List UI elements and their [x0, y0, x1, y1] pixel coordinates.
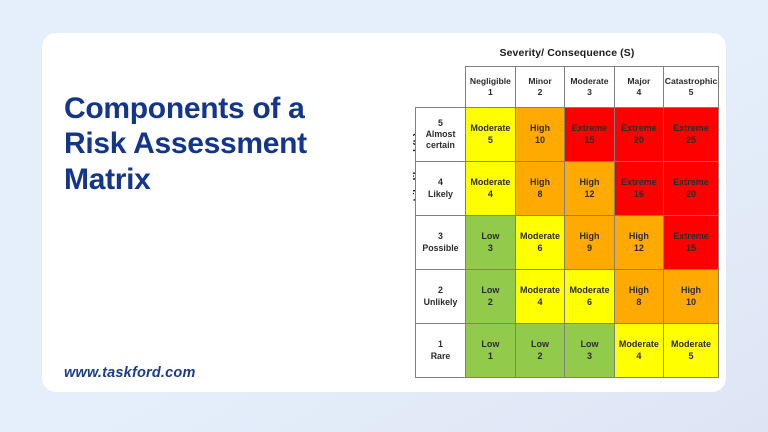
matrix-cell[interactable]: High 12	[565, 162, 614, 216]
cell-level: High	[565, 177, 613, 189]
matrix-row: 1 Rare Low 1 Low 2 Low 3	[416, 324, 719, 378]
matrix-row: 3 Possible Low 3 Moderate 6 High	[416, 216, 719, 270]
matrix-cell[interactable]: High 12	[614, 216, 663, 270]
matrix-cell[interactable]: Extreme 15	[664, 216, 719, 270]
severity-axis-title: Severity/ Consequence (S)	[415, 47, 719, 59]
cell-value: 5	[466, 135, 515, 147]
matrix-header-row: Negligible 1 Minor 2 Moderate 3 Major	[416, 67, 719, 108]
severity-header-3: Moderate 3	[565, 67, 614, 108]
cell-level: Moderate	[565, 285, 613, 297]
cell-value: 6	[516, 243, 564, 255]
cell-value: 12	[615, 243, 663, 255]
matrix-cell[interactable]: Low 2	[465, 270, 515, 324]
likelihood-header-4-label: Likely	[416, 189, 465, 200]
cell-value: 1	[466, 351, 515, 363]
severity-header-1-label: Negligible	[466, 76, 515, 87]
cell-value: 8	[516, 189, 564, 201]
cell-value: 3	[466, 243, 515, 255]
severity-header-2-label: Minor	[516, 76, 564, 87]
cell-level: Extreme	[615, 123, 663, 135]
matrix-cell[interactable]: Moderate 4	[465, 162, 515, 216]
likelihood-header-5-score: 5	[416, 118, 465, 129]
page-title-line-1: Components of a	[64, 91, 384, 126]
matrix-cell[interactable]: Low 1	[465, 324, 515, 378]
severity-header-4-score: 4	[615, 87, 663, 98]
severity-header-4-label: Major	[615, 76, 663, 87]
cell-level: High	[664, 285, 718, 297]
slide-canvas: Components of a Risk Assessment Matrix w…	[0, 0, 768, 432]
cell-value: 12	[565, 189, 613, 201]
cell-level: Extreme	[565, 123, 613, 135]
page-title: Components of a Risk Assessment Matrix	[64, 91, 384, 197]
likelihood-header-4-score: 4	[416, 177, 465, 188]
cell-value: 4	[615, 351, 663, 363]
severity-header-3-label: Moderate	[565, 76, 613, 87]
cell-value: 25	[664, 135, 718, 147]
matrix-cell[interactable]: High 9	[565, 216, 614, 270]
matrix-row: 5 Almost certain Moderate 5 High 10 Ex	[416, 108, 719, 162]
matrix-row: 2 Unlikely Low 2 Moderate 4 Moderate	[416, 270, 719, 324]
cell-level: Moderate	[664, 339, 718, 351]
likelihood-header-3-score: 3	[416, 231, 465, 242]
matrix-cell[interactable]: Moderate 6	[515, 216, 564, 270]
cell-level: High	[516, 177, 564, 189]
matrix-cell[interactable]: Moderate 5	[465, 108, 515, 162]
cell-value: 9	[565, 243, 613, 255]
severity-header-5: Catastrophic 5	[664, 67, 719, 108]
severity-header-4: Major 4	[614, 67, 663, 108]
likelihood-header-5-label: Almost certain	[416, 129, 465, 152]
risk-matrix-figure: Severity/ Consequence (S) Likelihood (L)…	[347, 39, 719, 387]
matrix-cell[interactable]: Extreme 15	[565, 108, 614, 162]
cell-level: Low	[565, 339, 613, 351]
likelihood-header-3: 3 Possible	[416, 216, 466, 270]
cell-value: 16	[615, 189, 663, 201]
matrix-cell[interactable]: Extreme 20	[614, 108, 663, 162]
severity-header-1: Negligible 1	[465, 67, 515, 108]
cell-level: Moderate	[466, 177, 515, 189]
cell-value: 10	[516, 135, 564, 147]
cell-value: 6	[565, 297, 613, 309]
cell-level: High	[615, 285, 663, 297]
matrix-cell[interactable]: Moderate 6	[565, 270, 614, 324]
cell-value: 3	[565, 351, 613, 363]
matrix-cell[interactable]: Extreme 16	[614, 162, 663, 216]
severity-header-2-score: 2	[516, 87, 564, 98]
matrix-cell[interactable]: Low 2	[515, 324, 564, 378]
cell-level: Low	[466, 339, 515, 351]
cell-level: Extreme	[664, 177, 718, 189]
likelihood-header-2: 2 Unlikely	[416, 270, 466, 324]
cell-level: High	[516, 123, 564, 135]
cell-value: 2	[466, 297, 515, 309]
website-url[interactable]: www.taskford.com	[64, 365, 196, 381]
severity-header-5-score: 5	[664, 87, 718, 98]
matrix-cell[interactable]: High 8	[515, 162, 564, 216]
cell-level: Moderate	[466, 123, 515, 135]
cell-value: 10	[664, 297, 718, 309]
likelihood-header-4: 4 Likely	[416, 162, 466, 216]
severity-header-2: Minor 2	[515, 67, 564, 108]
cell-level: Moderate	[516, 285, 564, 297]
severity-header-5-label: Catastrophic	[664, 76, 718, 87]
cell-level: Extreme	[664, 123, 718, 135]
likelihood-header-3-label: Possible	[416, 243, 465, 254]
matrix-cell[interactable]: Extreme 25	[664, 108, 719, 162]
cell-value: 8	[615, 297, 663, 309]
content-card: Components of a Risk Assessment Matrix w…	[42, 33, 726, 392]
matrix-cell[interactable]: Extreme 20	[664, 162, 719, 216]
likelihood-header-1: 1 Rare	[416, 324, 466, 378]
cell-level: Moderate	[615, 339, 663, 351]
cell-level: High	[565, 231, 613, 243]
likelihood-header-2-score: 2	[416, 285, 465, 296]
cell-value: 4	[516, 297, 564, 309]
page-title-line-2: Risk Assessment	[64, 126, 384, 161]
matrix-cell[interactable]: Moderate 5	[664, 324, 719, 378]
severity-header-3-score: 3	[565, 87, 613, 98]
matrix-row: 4 Likely Moderate 4 High 8 High	[416, 162, 719, 216]
cell-value: 4	[466, 189, 515, 201]
likelihood-header-2-label: Unlikely	[416, 297, 465, 308]
cell-value: 15	[565, 135, 613, 147]
likelihood-header-5: 5 Almost certain	[416, 108, 466, 162]
matrix-cell[interactable]: Moderate 4	[515, 270, 564, 324]
matrix-cell[interactable]: Moderate 4	[614, 324, 663, 378]
cell-value: 20	[664, 189, 718, 201]
likelihood-header-1-label: Rare	[416, 351, 465, 362]
matrix-cell[interactable]: High 10	[664, 270, 719, 324]
cell-value: 15	[664, 243, 718, 255]
cell-level: Moderate	[516, 231, 564, 243]
cell-level: Low	[466, 285, 515, 297]
cell-level: High	[615, 231, 663, 243]
matrix-corner-cell	[416, 67, 466, 108]
cell-level: Low	[516, 339, 564, 351]
matrix-cell[interactable]: Low 3	[565, 324, 614, 378]
risk-matrix-table: Negligible 1 Minor 2 Moderate 3 Major	[415, 66, 719, 378]
matrix-cell[interactable]: High 10	[515, 108, 564, 162]
matrix-cell[interactable]: Low 3	[465, 216, 515, 270]
severity-header-1-score: 1	[466, 87, 515, 98]
cell-value: 20	[615, 135, 663, 147]
cell-level: Extreme	[664, 231, 718, 243]
cell-level: Low	[466, 231, 515, 243]
cell-level: Extreme	[615, 177, 663, 189]
matrix-cell[interactable]: High 8	[614, 270, 663, 324]
likelihood-header-1-score: 1	[416, 339, 465, 350]
page-title-line-3: Matrix	[64, 162, 384, 197]
cell-value: 2	[516, 351, 564, 363]
cell-value: 5	[664, 351, 718, 363]
